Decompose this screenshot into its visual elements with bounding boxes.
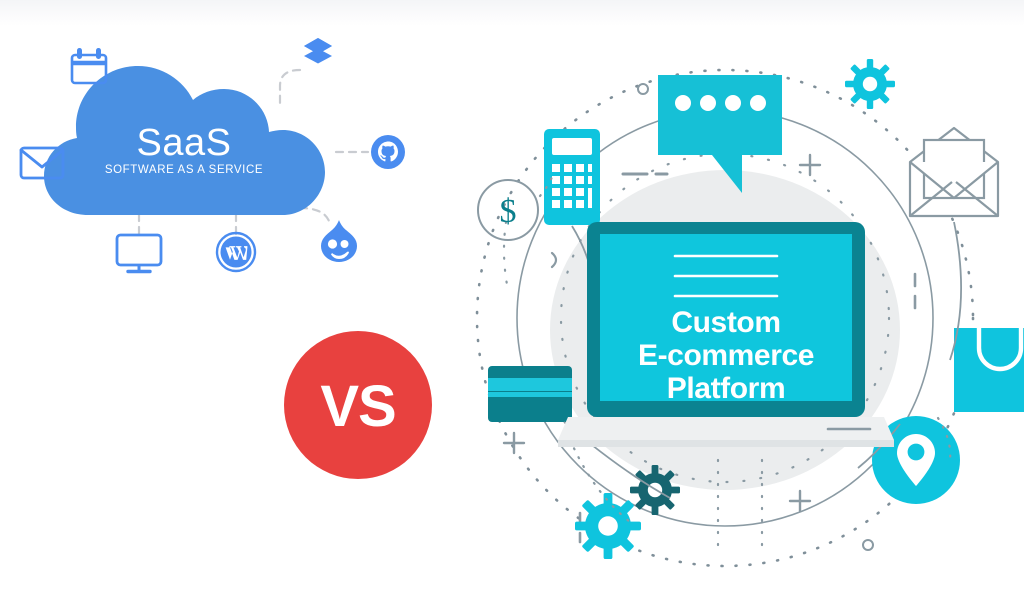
credit-card-icon [488, 366, 572, 422]
cloud-subtitle: SOFTWARE AS A SERVICE [105, 164, 263, 176]
saas-section: SaaS SOFTWARE AS A SERVICE [0, 0, 470, 613]
gear-icon-cyan [575, 493, 641, 559]
wordpress-icon [217, 233, 255, 271]
drupal-icon [321, 220, 357, 262]
envelope-open-icon [910, 128, 998, 216]
screen-line-3: Platform [667, 372, 786, 405]
dollar-coin-icon: $ [478, 180, 538, 240]
svg-text:$: $ [500, 193, 517, 230]
calculator-icon [544, 129, 600, 225]
vs-badge: VS [284, 331, 432, 479]
github-icon [371, 135, 405, 169]
cloud-title: SaaS [137, 122, 232, 164]
vs-label: VS [320, 374, 395, 439]
laptop: Custom E-commerce Platform [558, 222, 894, 447]
shopping-bag-icon [954, 328, 1024, 412]
calendar-icon [72, 48, 106, 83]
ecommerce-section: $ [470, 0, 1024, 613]
screen-line-1: Custom [671, 306, 780, 339]
screen-line-2: E-commerce [638, 339, 814, 372]
gear-icon-top [845, 59, 895, 109]
saas-cloud: SaaS SOFTWARE AS A SERVICE [44, 66, 325, 215]
dropbox-icon [304, 38, 332, 64]
monitor-icon [117, 235, 161, 272]
illustration-canvas: SaaS SOFTWARE AS A SERVICE [0, 0, 1024, 613]
laptop-base-shadow [558, 440, 894, 447]
